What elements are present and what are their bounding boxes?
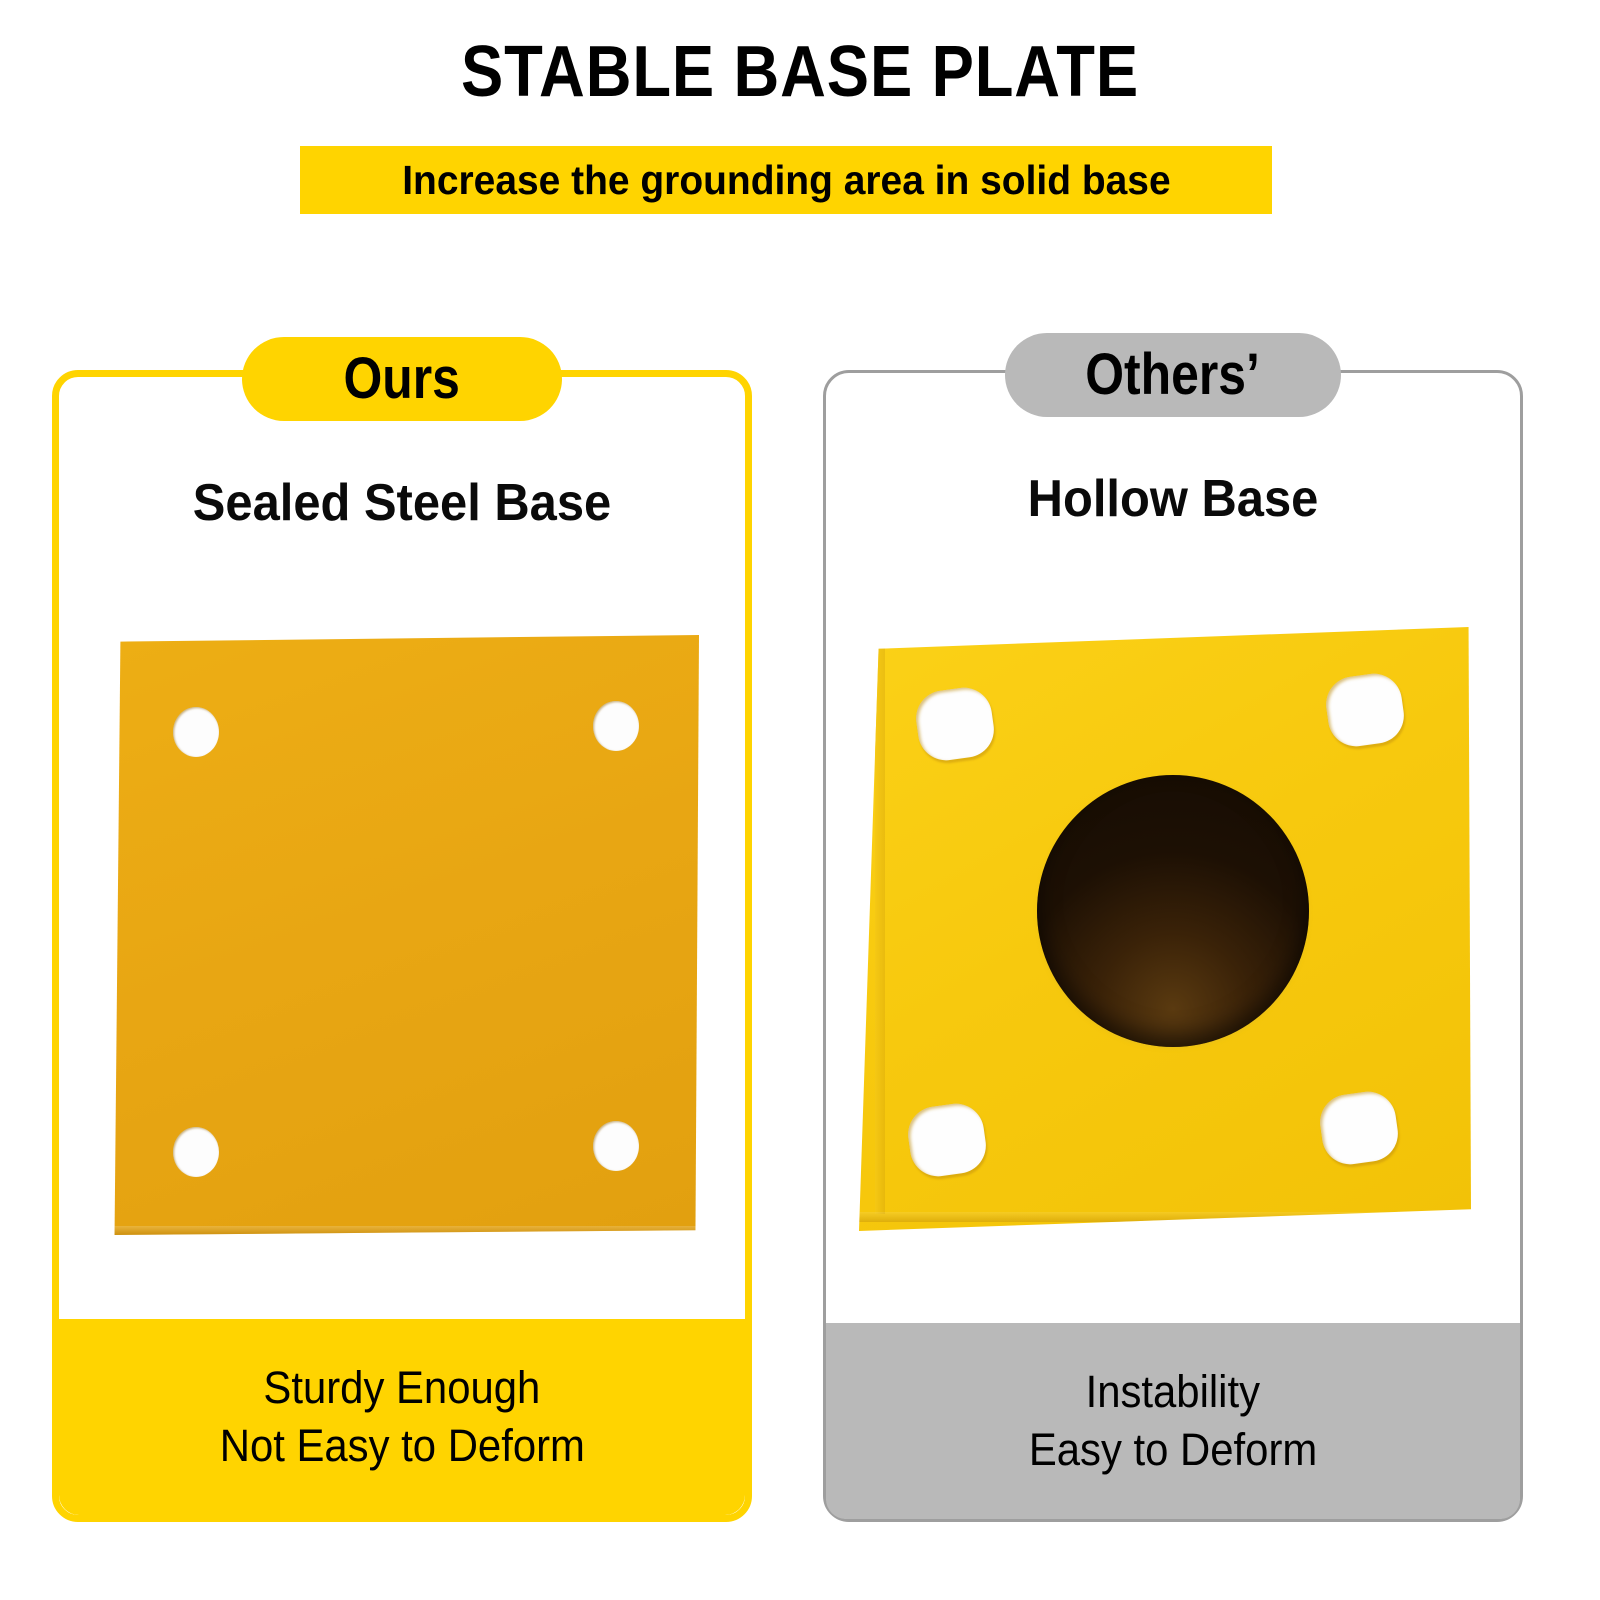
solid-base-plate-image: [111, 635, 699, 1235]
footer-ours: Sturdy Enough Not Easy to Deform: [59, 1319, 745, 1515]
subtitle-text: Increase the grounding area in solid bas…: [402, 157, 1170, 204]
mounting-hole-bottom-left: [173, 1127, 219, 1177]
subtitle-banner: Increase the grounding area in solid bas…: [300, 146, 1272, 214]
badge-ours-label: Ours: [344, 350, 460, 408]
heading-sealed-steel-base: Sealed Steel Base: [80, 477, 725, 529]
mounting-hole-top-right: [593, 701, 639, 751]
footer-others-line-2: Easy to Deform: [1029, 1421, 1317, 1479]
badge-ours: Ours: [242, 337, 562, 421]
footer-others: Instability Easy to Deform: [826, 1323, 1520, 1519]
mounting-slot-top-left: [912, 684, 997, 764]
badge-others: Others’: [1005, 333, 1341, 417]
heading-hollow-base: Hollow Base: [847, 473, 1499, 525]
mounting-hole-bottom-right: [593, 1121, 639, 1171]
mounting-hole-top-left: [173, 707, 219, 757]
page-title: STABLE BASE PLATE: [96, 36, 1504, 108]
plate-stage-others: [826, 613, 1520, 1253]
footer-ours-line-1: Sturdy Enough: [264, 1359, 541, 1417]
badge-others-label: Others’: [1086, 346, 1261, 404]
footer-ours-line-2: Not Easy to Deform: [219, 1417, 584, 1475]
mounting-slot-top-right: [1322, 670, 1407, 750]
hollow-base-plate-image: [859, 627, 1471, 1231]
mounting-slot-bottom-left: [904, 1100, 989, 1180]
comparison-card-others: Others’ Hollow Base Instability Easy to …: [823, 370, 1523, 1522]
plate-stage-ours: [59, 617, 745, 1257]
center-hollow-hole: [1037, 775, 1309, 1047]
comparison-card-ours: Ours Sealed Steel Base Sturdy Enough Not…: [52, 370, 752, 1522]
mounting-slot-bottom-right: [1316, 1088, 1401, 1168]
footer-others-line-1: Instability: [1086, 1363, 1260, 1421]
